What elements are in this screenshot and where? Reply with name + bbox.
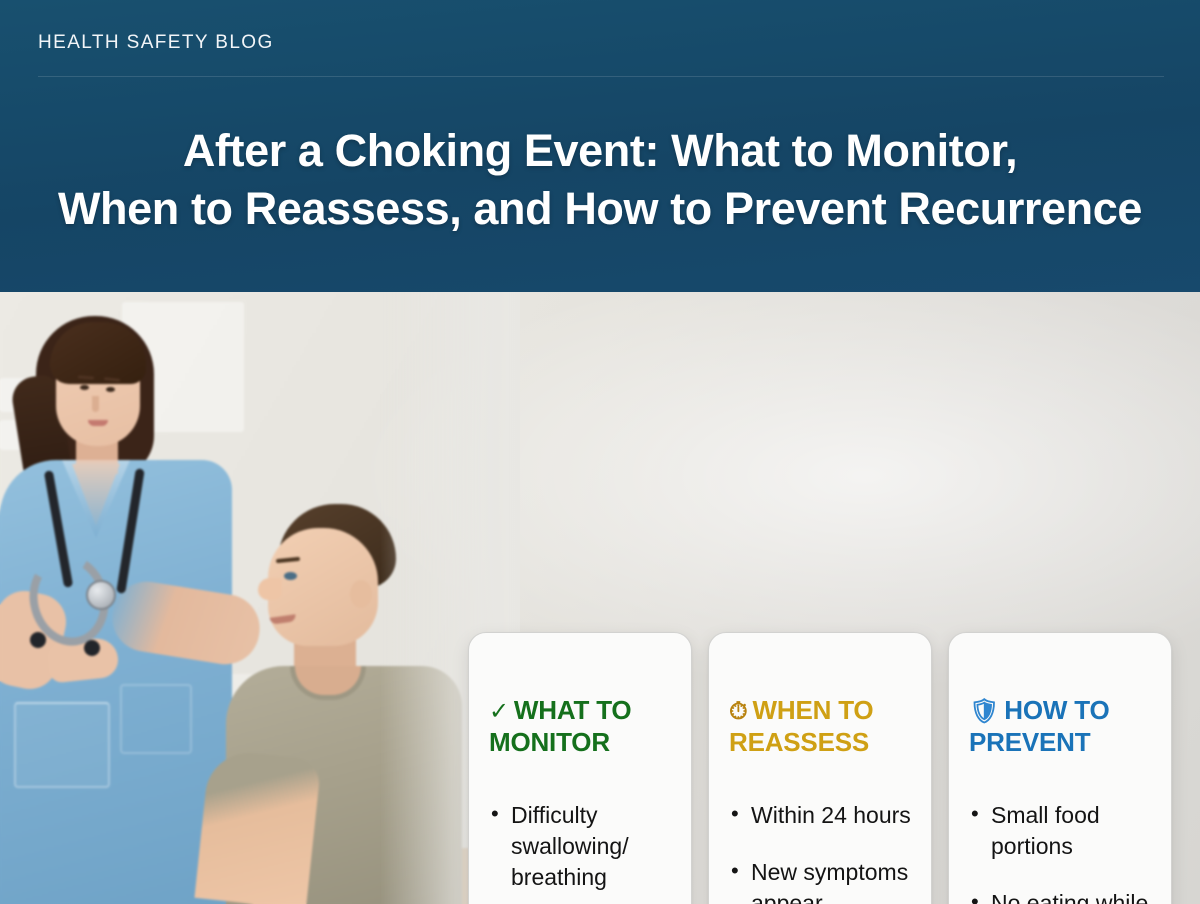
page-title-line-2: When to Reassess, and How to Prevent Rec… [22, 180, 1178, 238]
card-heading: 🛡HOW TO PREVENT [969, 695, 1151, 758]
card-bullet-list: Within 24 hours New symptoms appear Foll… [729, 800, 911, 904]
list-item: No eating while distracted [969, 888, 1151, 904]
card-title: WHEN TO REASSESS [729, 695, 873, 757]
card-bullet-list: Small food portions No eating while dist… [969, 800, 1151, 904]
scrub-pocket [14, 702, 110, 788]
nurse-mouth [88, 420, 108, 426]
patient-ear [350, 580, 372, 608]
header-banner: HEALTH SAFETY BLOG After a Choking Event… [0, 0, 1200, 292]
list-item: Difficulty swallowing/ breathing [489, 800, 671, 892]
card-heading: ✓WHAT TO MONITOR [489, 695, 671, 758]
patient-nose [258, 578, 282, 600]
patient-arm [194, 749, 321, 904]
page-title: After a Choking Event: What to Monitor, … [0, 122, 1200, 237]
card-heading: ⏱WHEN TO REASSESS [729, 695, 911, 758]
list-item: New symptoms appear [729, 857, 911, 904]
blog-kicker: HEALTH SAFETY BLOG [38, 32, 274, 54]
stethoscope-earpiece [30, 632, 46, 648]
info-card-group: ✓WHAT TO MONITOR Difficulty swallowing/ … [468, 632, 1174, 904]
list-item: Within 24 hours [729, 800, 911, 831]
infographic-poster: HEALTH SAFETY BLOG After a Choking Event… [0, 0, 1200, 904]
shield-icon: 🛡 [969, 697, 999, 725]
header-divider [38, 76, 1164, 77]
nurse-eye [106, 387, 115, 392]
list-item: Small food portions [969, 800, 1151, 861]
content-area: ✓WHAT TO MONITOR Difficulty swallowing/ … [0, 292, 1200, 904]
stethoscope-chestpiece [86, 580, 116, 610]
card-how-to-prevent: 🛡HOW TO PREVENT Small food portions No e… [948, 632, 1172, 904]
card-title: WHAT TO MONITOR [489, 695, 631, 757]
card-what-to-monitor: ✓WHAT TO MONITOR Difficulty swallowing/ … [468, 632, 692, 904]
patient-figure [182, 292, 472, 904]
card-when-to-reassess: ⏱WHEN TO REASSESS Within 24 hours New sy… [708, 632, 932, 904]
check-icon: ✓ [489, 697, 509, 725]
nurse-nose [92, 396, 99, 412]
page-title-line-1: After a Choking Event: What to Monitor, [22, 122, 1178, 180]
stethoscope-earpiece [84, 640, 100, 656]
card-bullet-list: Difficulty swallowing/ breathing Chest/t… [489, 800, 671, 904]
nurse-eye [80, 385, 89, 390]
patient-eye [284, 572, 297, 580]
stopwatch-icon: ⏱ [729, 697, 748, 725]
